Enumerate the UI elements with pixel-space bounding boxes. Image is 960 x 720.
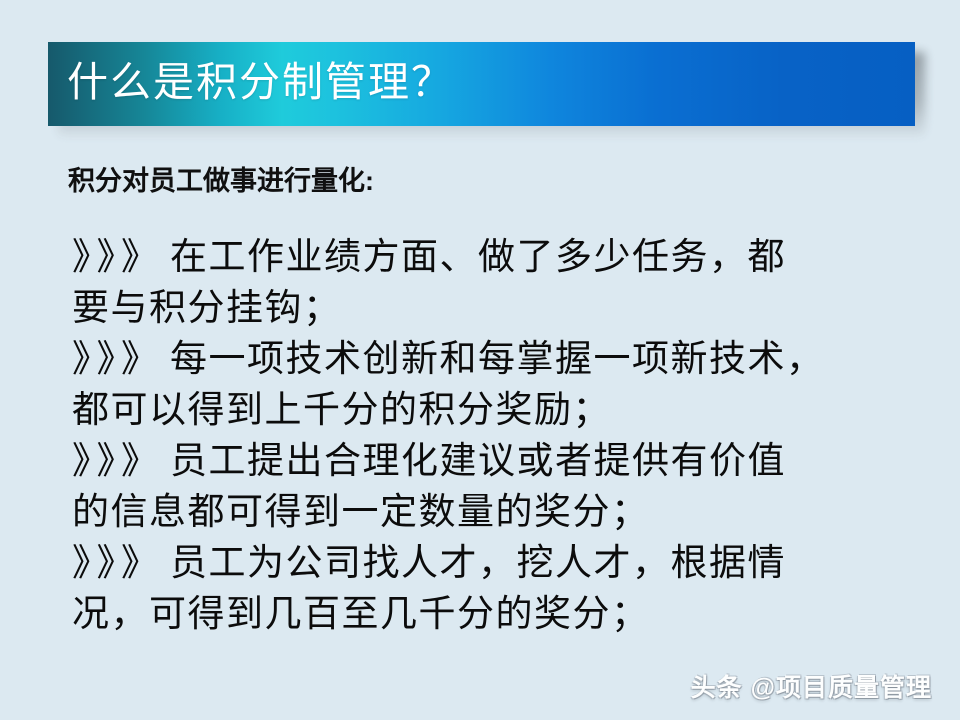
chevron-marker-icon: 》》》: [72, 441, 170, 482]
bullet-item-1-line-1: 》》》在工作业绩方面、做了多少任务，都: [72, 232, 917, 283]
bullet-item-4-line-1: 》》》员工为公司找人才，挖人才，根据情: [72, 538, 917, 589]
slide-canvas: 什么是积分制管理？ 积分对员工做事进行量化: 》》》在工作业绩方面、做了多少任务…: [0, 0, 960, 720]
chevron-marker-icon: 》》》: [72, 543, 170, 584]
bullet-item-4-line-2: 况，可得到几百至几千分的奖分；: [72, 589, 917, 640]
bullet-item-1-text-1: 在工作业绩方面、做了多少任务，都: [170, 237, 786, 278]
bullet-item-4-text-1: 员工为公司找人才，挖人才，根据情: [170, 543, 786, 584]
page-title: 什么是积分制管理？: [67, 53, 454, 111]
bullet-list: 》》》在工作业绩方面、做了多少任务，都 要与积分挂钩； 》》》每一项技术创新和每…: [72, 232, 917, 640]
bullet-item-2-text-1: 每一项技术创新和每掌握一项新技术，: [170, 339, 825, 380]
bullet-item-3-text-1: 员工提出合理化建议或者提供有价值: [170, 441, 786, 482]
watermark: 头条 @项目质量管理: [691, 672, 932, 704]
bullet-item-1-line-2: 要与积分挂钩；: [72, 283, 917, 334]
bullet-item-2-line-1: 》》》每一项技术创新和每掌握一项新技术，: [72, 334, 917, 385]
chevron-marker-icon: 》》》: [72, 237, 170, 278]
bullet-item-2-line-2: 都可以得到上千分的积分奖励；: [72, 385, 917, 436]
title-banner: 什么是积分制管理？: [48, 42, 915, 126]
bullet-item-3-line-1: 》》》员工提出合理化建议或者提供有价值: [72, 436, 917, 487]
bullet-item-3-line-2: 的信息都可得到一定数量的奖分；: [72, 487, 917, 538]
chevron-marker-icon: 》》》: [72, 339, 170, 380]
subheading: 积分对员工做事进行量化:: [68, 161, 374, 201]
